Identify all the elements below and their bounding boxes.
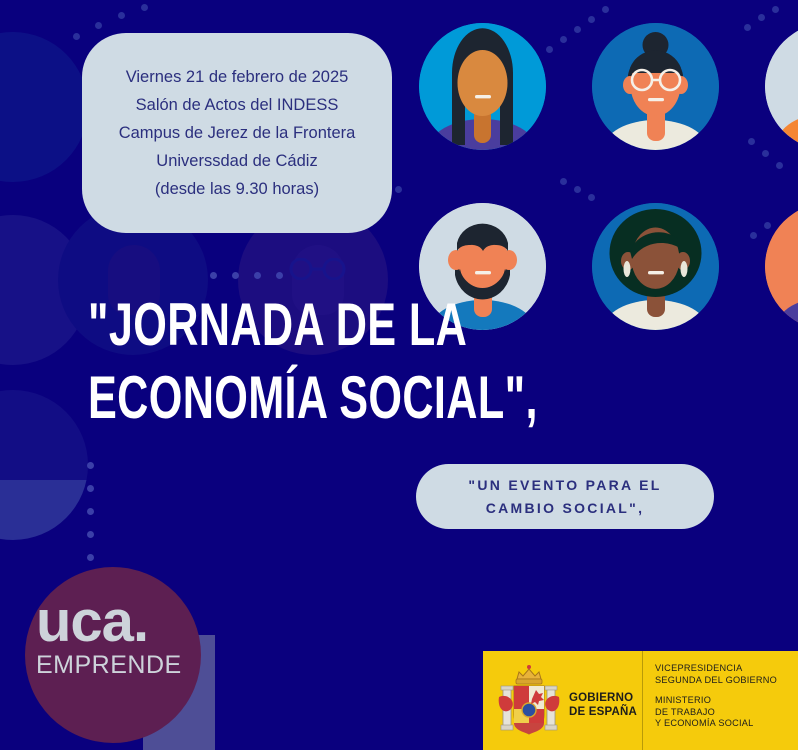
info-line-date: Viernes 21 de febrero de 2025 <box>126 65 349 90</box>
gov-banner-title-line1: GOBIERNO <box>569 691 637 705</box>
gov-vice-line1: VICEPRESIDENCIA <box>655 663 798 675</box>
gov-min-line1: MINISTERIO <box>655 695 798 707</box>
info-line-venue: Salón de Actos del INDESS <box>136 93 339 118</box>
info-line-university: Universsdad de Cádiz <box>156 149 317 174</box>
title-line-2: ECONOMÍA SOCIAL", <box>88 361 390 434</box>
avatar-woman-afro <box>592 203 719 330</box>
spain-coat-of-arms-icon <box>495 663 563 744</box>
gov-banner-left: GOBIERNO DE ESPAÑA <box>483 651 643 750</box>
gobierno-de-espana-banner: GOBIERNO DE ESPAÑA VICEPRESIDENCIA SEGUN… <box>483 651 798 750</box>
info-line-campus: Campus de Jerez de la Frontera <box>119 121 356 146</box>
title-line-1: "JORNADA DE LA <box>88 288 390 361</box>
gov-banner-vicepresidencia: VICEPRESIDENCIA SEGUNDA DEL GOBIERNO <box>655 663 798 686</box>
info-bubble: Viernes 21 de febrero de 2025 Salón de A… <box>82 33 392 233</box>
gov-banner-ministerio: MINISTERIO DE TRABAJO Y ECONOMÍA SOCIAL <box>655 695 798 730</box>
gov-vice-line2: SEGUNDA DEL GOBIERNO <box>655 675 798 687</box>
uca-logo-subtitle: EMPRENDE <box>36 650 206 680</box>
subtitle-line-1: "UN EVENTO PARA EL <box>468 474 661 497</box>
subtitle-line-2: CAMBIO SOCIAL", <box>486 497 645 520</box>
uca-logo-wordmark: uca. <box>36 594 206 650</box>
info-line-time: (desde las 9.30 horas) <box>155 177 319 202</box>
gov-banner-title: GOBIERNO DE ESPAÑA <box>569 691 637 719</box>
avatar-person-glasses-bun <box>592 23 719 150</box>
poster-canvas: Viernes 21 de febrero de 2025 Salón de A… <box>0 0 798 750</box>
gov-min-line2: DE TRABAJO <box>655 707 798 719</box>
avatar-partial-top-right <box>765 23 798 150</box>
gov-banner-right: VICEPRESIDENCIA SEGUNDA DEL GOBIERNO MIN… <box>643 651 798 750</box>
uca-logo: uca. EMPRENDE <box>36 594 206 680</box>
subtitle-bubble: "UN EVENTO PARA EL CAMBIO SOCIAL", <box>416 464 714 529</box>
page-title: "JORNADA DE LA ECONOMÍA SOCIAL", <box>88 288 390 434</box>
avatar-woman-long-hair <box>419 23 546 150</box>
gov-banner-title-line2: DE ESPAÑA <box>569 705 637 719</box>
gov-min-line3: Y ECONOMÍA SOCIAL <box>655 718 798 730</box>
